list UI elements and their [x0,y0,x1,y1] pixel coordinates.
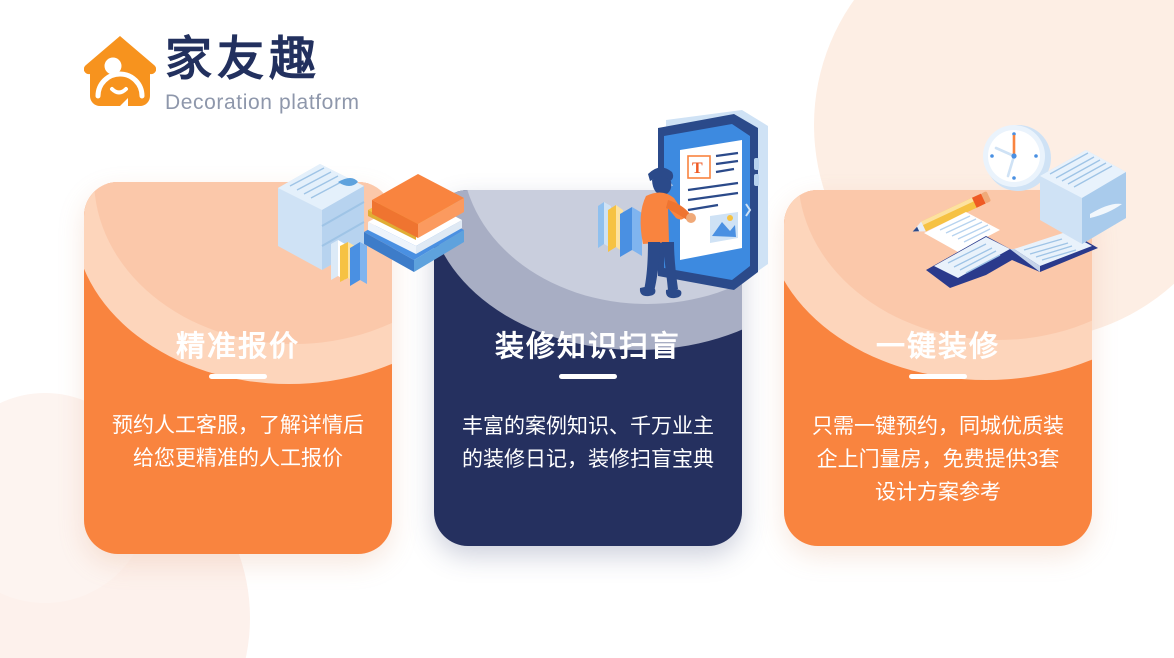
card-content: 一键装修 只需一键预约，同城优质装企上门量房，免费提供3套设计方案参考 [784,190,1092,546]
card-description: 只需一键预约，同城优质装企上门量房，免费提供3套设计方案参考 [810,410,1066,509]
card-title: 精准报价 [84,323,392,365]
house-smiley-icon [84,34,156,108]
card-content: 精准报价 预约人工客服，了解详情后给您更精准的人工报价 [84,182,392,554]
slide-canvas: 家友趣 Decoration platform 精准报价 预约人工客服，了解详情… [0,0,1174,658]
card-description: 预约人工客服，了解详情后给您更精准的人工报价 [110,409,366,475]
card-divider [209,374,267,379]
card-title: 装修知识扫盲 [434,323,742,365]
brand-title: 家友趣 [165,32,360,86]
feature-card-precise-quote[interactable]: 精准报价 预约人工客服，了解详情后给您更精准的人工报价 [84,182,392,554]
brand-logo[interactable]: 家友趣 Decoration platform [84,32,360,115]
card-title: 一键装修 [784,323,1092,365]
feature-card-decoration-knowledge[interactable]: 装修知识扫盲 丰富的案例知识、千万业主的装修日记，装修扫盲宝典 [434,190,742,546]
svg-text:T: T [692,160,703,177]
feature-card-one-click-decoration[interactable]: 一键装修 只需一键预约，同城优质装企上门量房，免费提供3套设计方案参考 [784,190,1092,546]
card-divider [909,374,967,379]
brand-text: 家友趣 Decoration platform [165,32,360,115]
card-content: 装修知识扫盲 丰富的案例知识、千万业主的装修日记，装修扫盲宝典 [434,190,742,546]
card-description: 丰富的案例知识、千万业主的装修日记，装修扫盲宝典 [460,410,716,476]
card-divider [559,374,617,379]
brand-subtitle: Decoration platform [165,91,360,115]
